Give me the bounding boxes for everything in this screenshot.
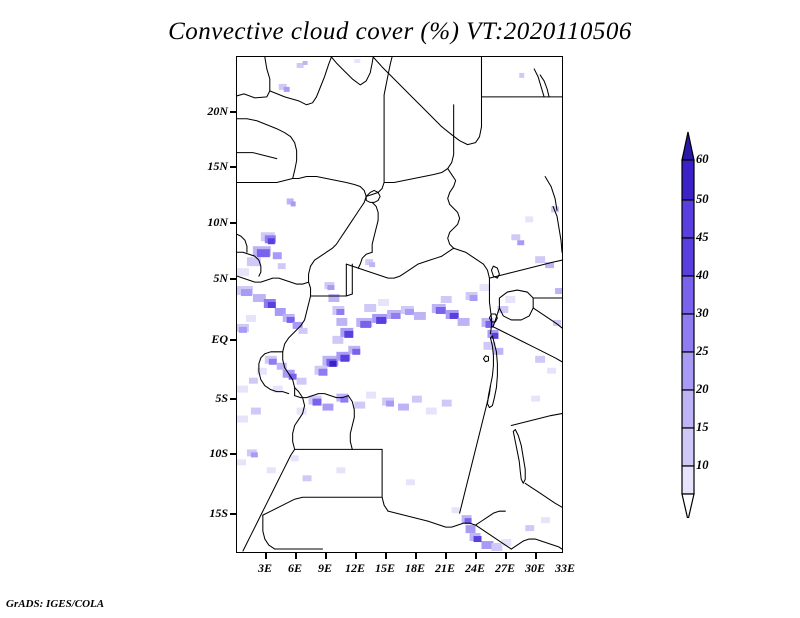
y-tick-label: 5S	[198, 391, 228, 406]
colorbar: 60 50 45 40 30 25 20 15 10	[668, 128, 788, 518]
x-tick	[355, 553, 357, 559]
x-tick	[445, 553, 447, 559]
x-tick	[535, 553, 537, 559]
page-title: Convective cloud cover (%) VT:2020110506	[0, 18, 800, 46]
x-tick	[295, 553, 297, 559]
y-tick	[230, 339, 236, 341]
map-borders	[237, 57, 562, 551]
x-tick	[505, 553, 507, 559]
colorbar-label: 60	[696, 152, 709, 167]
grads-plot-canvas: Convective cloud cover (%) VT:2020110506	[0, 0, 800, 618]
colorbar-label: 30	[696, 306, 709, 321]
colorbar-label: 10	[696, 458, 709, 473]
y-tick	[230, 166, 236, 168]
x-tick	[325, 553, 327, 559]
y-tick-label: 10N	[198, 215, 228, 230]
y-tick	[230, 453, 236, 455]
y-tick	[230, 222, 236, 224]
colorbar-label: 40	[696, 268, 709, 283]
y-tick	[230, 513, 236, 515]
x-tick-label: 3E	[250, 561, 280, 576]
y-tick-label: 10S	[194, 446, 228, 461]
y-tick	[230, 111, 236, 113]
x-tick-label: 6E	[280, 561, 310, 576]
colorbar-label: 15	[696, 420, 709, 435]
map-graphic	[237, 57, 562, 552]
y-tick-label: EQ	[198, 332, 228, 347]
colorbar-label: 20	[696, 382, 709, 397]
y-tick-label: 20N	[198, 104, 228, 119]
x-tick-label: 33E	[547, 561, 583, 576]
y-tick-label: 15N	[198, 159, 228, 174]
y-tick-label: 5N	[198, 271, 228, 286]
y-tick-label: 15S	[194, 506, 228, 521]
x-tick	[415, 553, 417, 559]
colorbar-label: 25	[696, 344, 709, 359]
x-tick	[385, 553, 387, 559]
colorbar-label: 50	[696, 192, 709, 207]
x-tick	[475, 553, 477, 559]
y-tick	[230, 398, 236, 400]
grads-attribution: GrADS: IGES/COLA	[6, 598, 104, 610]
map-plot-area	[236, 56, 563, 553]
colorbar-label: 45	[696, 230, 709, 245]
x-tick-label: 9E	[310, 561, 340, 576]
y-tick	[230, 278, 236, 280]
x-tick	[265, 553, 267, 559]
